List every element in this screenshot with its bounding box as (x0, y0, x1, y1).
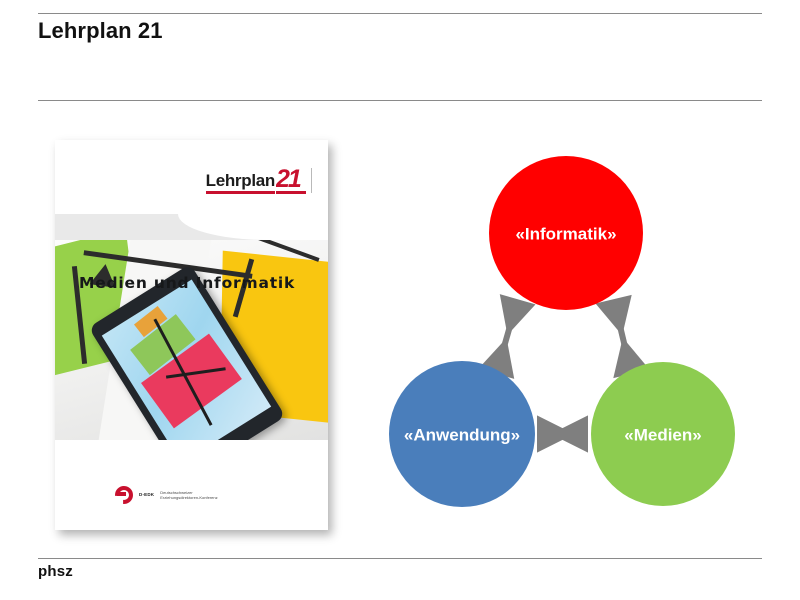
header-divider (38, 100, 762, 101)
lehrplan21-logo: Lehrplan 21 (206, 168, 306, 194)
lehrplan21-logo-number-group: 21 (276, 169, 306, 194)
circle-label-informatik: «Informatik» (515, 225, 616, 244)
publisher-full-name: Deutschschweizer Erziehungsdirektoren-Ko… (160, 490, 232, 501)
circle-label-medien: «Medien» (624, 426, 701, 445)
book-cover-photo (55, 240, 328, 440)
lehrplan21-logo-bar (276, 191, 306, 194)
footer-brand: phsz (38, 563, 73, 580)
top-divider (38, 13, 762, 14)
page-title: Lehrplan 21 (38, 18, 163, 44)
footer-divider (38, 558, 762, 559)
book-cover-image: Lehrplan 21 (55, 140, 328, 530)
circle-label-anwendung: «Anwendung» (404, 426, 520, 445)
competence-areas-diagram: «Informatik» «Anwendung» «Medien» (380, 140, 780, 540)
lehrplan21-logo-word: Lehrplan (206, 172, 275, 194)
connector-informatik-anwendung (498, 305, 516, 368)
lehrplan21-logo-number: 21 (276, 169, 300, 192)
diagram-node-medien: «Medien» (591, 362, 735, 506)
slide-canvas: Lehrplan 21 Lehrplan 21 (0, 0, 800, 600)
lehrplan21-logo-tick (311, 168, 312, 193)
connector-informatik-medien (615, 305, 630, 368)
d-edk-logo-icon (115, 486, 133, 504)
publisher-credit: D-EDK Deutschschweizer Erziehungsdirekto… (115, 486, 232, 504)
book-cover-title: Medien und Informatik (79, 274, 295, 292)
diagram-node-anwendung: «Anwendung» (389, 361, 535, 507)
diagram-node-informatik: «Informatik» (489, 156, 643, 310)
publisher-abbreviation: D-EDK (139, 492, 154, 497)
